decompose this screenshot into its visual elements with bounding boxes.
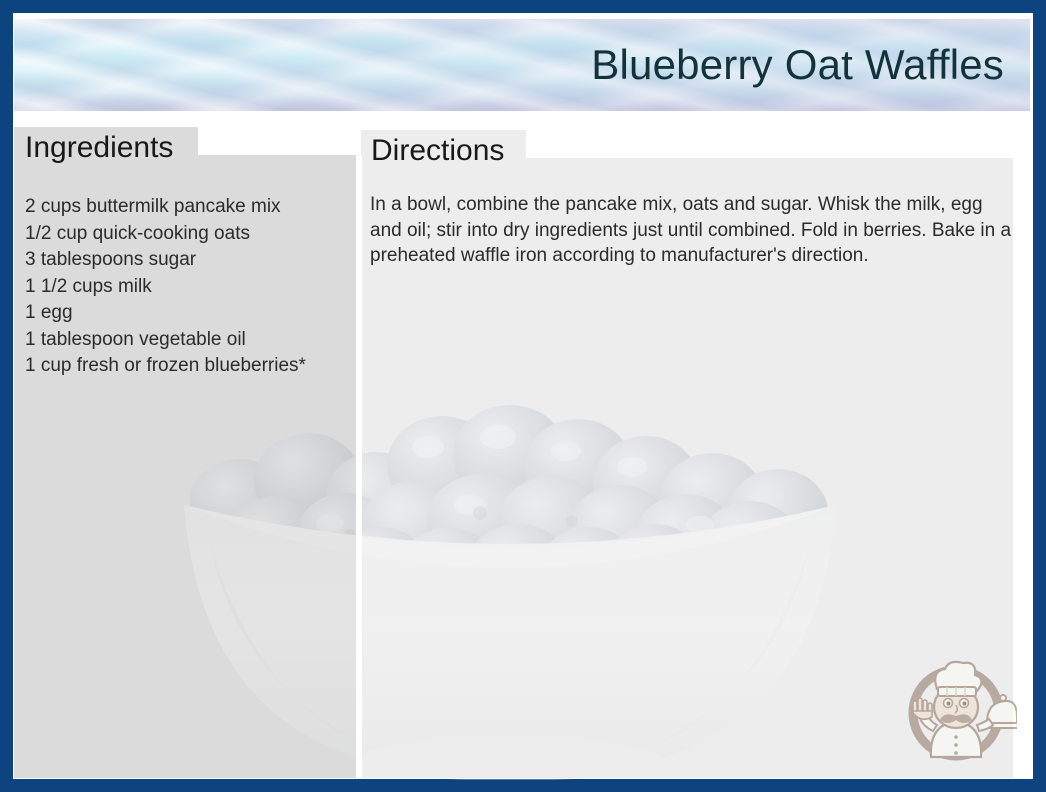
directions-body-text: In a bowl, combine the pancake mix, oats…	[370, 192, 1018, 269]
header-banner: Blueberry Oat Waffles	[14, 19, 1030, 111]
ingredients-heading: Ingredients	[25, 131, 173, 165]
list-item: 1/2 cup quick-cooking oats	[25, 221, 345, 248]
panel-divider	[356, 155, 362, 778]
recipe-card: Blueberry Oat Waffles Ingredients 2 cups…	[0, 0, 1046, 792]
list-item: 2 cups buttermilk pancake mix	[25, 194, 345, 221]
list-item: 1 egg	[25, 300, 345, 327]
chef-mascot-logo	[895, 645, 1017, 767]
list-item: 1 1/2 cups milk	[25, 274, 345, 301]
directions-heading: Directions	[371, 134, 504, 168]
ingredients-list: 2 cups buttermilk pancake mix 1/2 cup qu…	[25, 194, 345, 380]
list-item: 1 tablespoon vegetable oil	[25, 327, 345, 354]
page-title: Blueberry Oat Waffles	[591, 41, 1004, 89]
list-item: 3 tablespoons sugar	[25, 247, 345, 274]
list-item: 1 cup fresh or frozen blueberries*	[25, 353, 345, 380]
